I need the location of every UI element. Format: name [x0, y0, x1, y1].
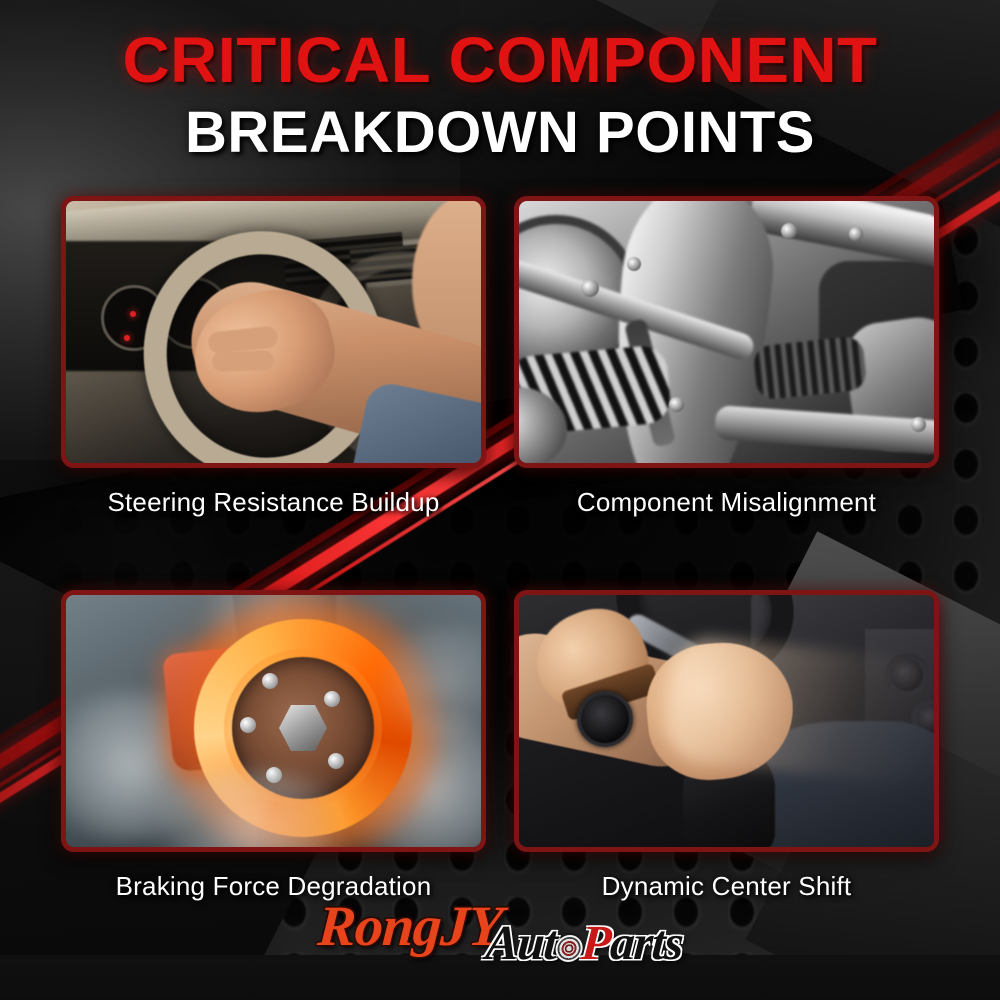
- image-card-braking[interactable]: [61, 590, 486, 852]
- wheel-icon: [554, 935, 583, 962]
- poster-canvas: CRITICAL COMPONENT BREAKDOWN POINTS: [0, 0, 1000, 1000]
- brand-logo-inner: RongJYAutParts: [318, 894, 683, 959]
- page-title-line1: CRITICAL COMPONENT: [0, 28, 1000, 92]
- autoparts-aut: Aut: [484, 915, 558, 970]
- image-card-center-shift[interactable]: [514, 590, 939, 852]
- brand-name-autoparts: AutParts: [484, 914, 685, 971]
- feature-cell-suspension: Component Misalignment: [514, 196, 939, 518]
- feature-row-bottom: Braking Force Degradation: [0, 590, 1000, 902]
- autoparts-p: P: [579, 915, 612, 970]
- page-title-line2: BREAKDOWN POINTS: [0, 104, 1000, 162]
- brand-logo[interactable]: RongJYAutParts: [0, 894, 1000, 959]
- poster-header: CRITICAL COMPONENT BREAKDOWN POINTS: [0, 28, 1000, 162]
- feature-cell-braking: Braking Force Degradation: [61, 590, 486, 902]
- photo-steering-wheel: [66, 201, 481, 463]
- feature-row-top: Steering Resistance Buildup: [0, 196, 1000, 518]
- photo-gear-shifter: [519, 595, 934, 847]
- image-card-suspension[interactable]: [514, 196, 939, 468]
- feature-cell-steering: Steering Resistance Buildup: [61, 196, 486, 518]
- brand-name-rongjy: RongJY: [315, 894, 504, 959]
- card-caption-steering: Steering Resistance Buildup: [61, 487, 486, 518]
- photo-suspension-assembly: [519, 201, 934, 463]
- autoparts-rest: arts: [608, 915, 684, 970]
- feature-cell-center-shift: Dynamic Center Shift: [514, 590, 939, 902]
- feature-grid: Steering Resistance Buildup: [0, 196, 1000, 902]
- photo-glowing-brake-rotor: [66, 595, 481, 847]
- image-card-steering[interactable]: [61, 196, 486, 468]
- card-caption-suspension: Component Misalignment: [514, 487, 939, 518]
